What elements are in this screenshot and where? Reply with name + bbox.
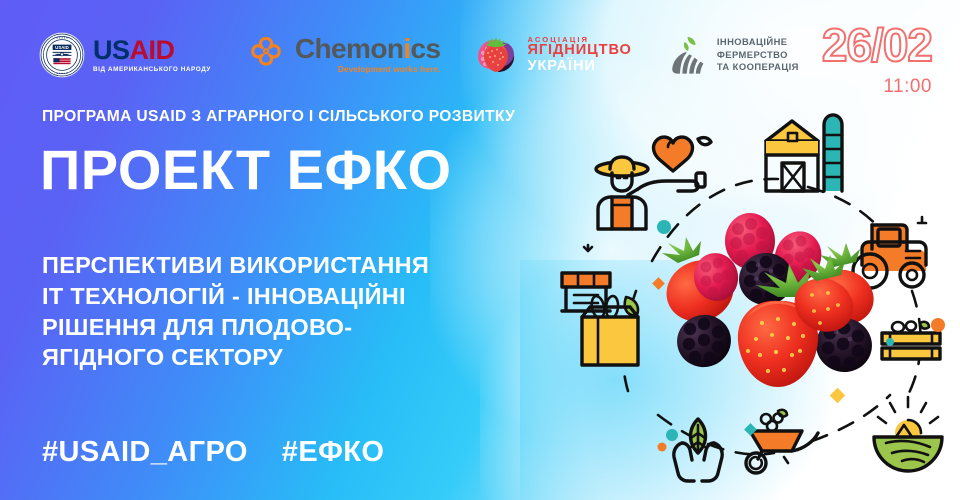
chemonics-word-part2: cs: [411, 33, 441, 64]
berry-assoc-line3: УКРАЇНИ: [527, 58, 595, 74]
innov-line2: ФЕРМЕРСТВО: [717, 49, 799, 61]
chemonics-word-part1: Chemon: [295, 33, 403, 64]
svg-text:USAID: USAID: [55, 45, 69, 50]
event-subtitle: ПЕРСПЕКТИВИ ВИКОРИСТАННЯ IT ТЕХНОЛОГІЙ -…: [42, 250, 429, 373]
svg-text:★ ★ ★ ★ ★: ★ ★ ★ ★ ★: [55, 36, 68, 39]
hashtag-efko: #ЕФКО: [282, 438, 384, 467]
hashtag-usaid-agro: #USAID_АГРО: [42, 438, 248, 467]
usaid-logo: USAID ★ ★ ★ ★ ★ ★ ★ ★: [40, 33, 211, 77]
berry-assoc-line2: ЯГІДНИЦТВО: [527, 42, 631, 58]
usaid-tagline: ВІД АМЕРИКАНСЬКОГО НАРОДУ: [93, 67, 211, 73]
event-date: 26/02: [822, 22, 932, 68]
subtitle-line-3: РІШЕННЯ ДЛЯ ПЛОДОВО-: [42, 312, 429, 343]
event-date-block: 26/02 11:00: [822, 22, 932, 96]
mixed-berries-photo: [638, 205, 888, 395]
chemonics-wordmark: Chemonics Development works here.: [295, 35, 441, 74]
event-time: 11:00: [822, 77, 932, 96]
innovative-farming-logo: ІННОВАЦІЙНЕ ФЕРМЕРСТВО ТА КООПЕРАЦІЯ: [666, 33, 799, 77]
berry-association-logo: АСОЦІАЦІЯ ЯГІДНИЦТВО УКРАЇНИ: [472, 31, 631, 79]
usaid-seal-icon: USAID ★ ★ ★ ★ ★ ★ ★ ★: [40, 33, 84, 77]
chemonics-tagline: Development works here.: [295, 66, 441, 74]
subtitle-line-2: IT ТЕХНОЛОГІЙ - ІННОВАЦІЙНІ: [42, 281, 429, 312]
subtitle-line-1: ПЕРСПЕКТИВИ ВИКОРИСТАННЯ: [42, 250, 429, 281]
promo-banner: USAID ★ ★ ★ ★ ★ ★ ★ ★: [0, 0, 960, 500]
usaid-word-aid: AID: [130, 35, 175, 65]
chemonics-word-dot-i: i: [403, 33, 410, 64]
berry-cluster-icon: [472, 31, 520, 79]
hashtag-row: #USAID_АГРО #ЕФКО: [42, 438, 384, 467]
innov-line1: ІННОВАЦІЙНЕ: [717, 36, 799, 48]
page-title: ПРОЕКТ ЕФКО: [40, 142, 452, 198]
subtitle-line-4: ЯГІДНОГО СЕКТОРУ: [42, 342, 429, 373]
chemonics-logo: Chemonics Development works here.: [245, 34, 441, 76]
chemonics-quatrefoil-icon: [245, 34, 287, 76]
sprout-field-icon: [666, 33, 708, 77]
program-kicker: ПРОГРАМА USAID З АГРАРНОГО І СІЛЬСЬКОГО …: [42, 108, 515, 126]
usaid-wordmark: USAID ВІД АМЕРИКАНСЬКОГО НАРОДУ: [93, 37, 211, 73]
svg-text:★ ★ ★ ★ ★: ★ ★ ★ ★ ★: [55, 72, 68, 75]
innovative-farming-wordmark: ІННОВАЦІЙНЕ ФЕРМЕРСТВО ТА КООПЕРАЦІЯ: [717, 36, 799, 73]
usaid-word-us: US: [93, 35, 130, 65]
innov-line3: ТА КООПЕРАЦІЯ: [717, 61, 799, 73]
berry-association-wordmark: АСОЦІАЦІЯ ЯГІДНИЦТВО УКРАЇНИ: [527, 36, 631, 75]
partner-logo-bar: USAID ★ ★ ★ ★ ★ ★ ★ ★: [40, 24, 799, 86]
